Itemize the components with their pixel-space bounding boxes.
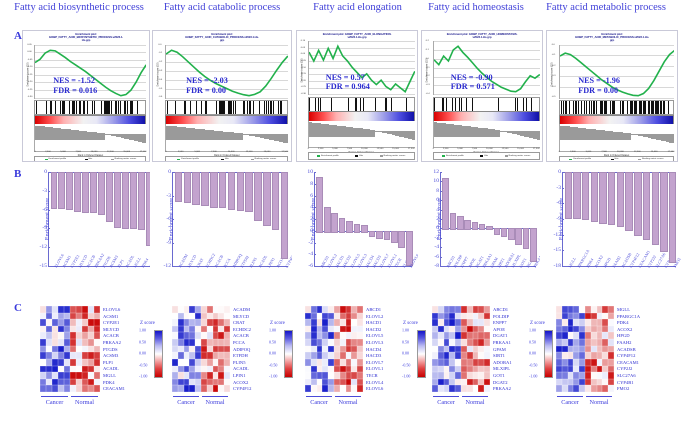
gene-label: DGAT1 bbox=[493, 333, 512, 340]
bar bbox=[74, 172, 81, 212]
gene-label: MLXIPL bbox=[493, 366, 512, 373]
legend-label: Ranking metric scores bbox=[642, 158, 664, 160]
bar bbox=[582, 172, 589, 220]
gene-label: GPAM bbox=[493, 347, 512, 354]
heatmap-cell bbox=[608, 379, 614, 386]
heatmap-block-2: ACADMMLYCDCRATECHDC2ACACBPCCAADIPOQETFDH… bbox=[172, 306, 300, 424]
bar bbox=[508, 228, 515, 239]
hit-tick bbox=[644, 101, 645, 114]
gsea-plot-5: Enrichment plot:GOBP_FATTY_ACID_METABOLI… bbox=[546, 30, 678, 162]
z-score-tick: 1.00 bbox=[269, 328, 276, 333]
gene-label: ACSM1 bbox=[103, 314, 125, 321]
rank-x-tick: 15,000 bbox=[651, 151, 658, 153]
es-y-tick: 0.05 bbox=[301, 47, 305, 49]
gene-label: FMO2 bbox=[617, 386, 640, 393]
es-y-tick: -0.30 bbox=[27, 96, 32, 98]
es-y-tick: -0.1 bbox=[158, 52, 162, 54]
hit-tick bbox=[74, 101, 75, 114]
rank-x-tick: 5,000 bbox=[60, 151, 65, 153]
group-underline bbox=[41, 396, 68, 397]
gene-label: ENPP7 bbox=[493, 320, 512, 327]
hit-tick bbox=[452, 98, 453, 111]
gene-label: ACADSB bbox=[617, 347, 640, 354]
bar-chart-y-tick: 10 bbox=[307, 169, 313, 175]
z-score-legend-title: Z score bbox=[403, 321, 418, 326]
hit-tick bbox=[523, 98, 524, 111]
hit-tick bbox=[221, 101, 222, 114]
bar bbox=[515, 228, 522, 245]
heatmap-grid bbox=[556, 306, 614, 392]
hit-tick bbox=[641, 101, 642, 114]
group-underline bbox=[335, 396, 361, 397]
bar-chart-y-tick: -9 bbox=[166, 240, 171, 246]
hit-tick bbox=[320, 98, 321, 111]
heatmap-cell bbox=[484, 366, 490, 373]
legend-entry: Enrichment profile bbox=[45, 158, 67, 160]
hit-tick bbox=[51, 101, 52, 114]
fdr-value: FDR = 0.964 bbox=[326, 82, 370, 92]
hit-tick bbox=[264, 101, 265, 114]
bar bbox=[617, 172, 624, 227]
bar bbox=[130, 172, 137, 229]
bar bbox=[643, 172, 650, 240]
rank-x-tick: 2,500 bbox=[570, 151, 575, 153]
heatmap-cell bbox=[357, 319, 363, 326]
legend-label: Ranking metric scores bbox=[384, 155, 406, 157]
bar bbox=[472, 222, 479, 231]
bar-chart-y-tick: 0 bbox=[168, 169, 171, 175]
heatmap-cell bbox=[94, 319, 100, 326]
hit-tick bbox=[631, 101, 632, 114]
bar bbox=[175, 172, 182, 202]
hit-tick bbox=[76, 101, 77, 114]
heatmap-cell bbox=[94, 313, 100, 320]
bar bbox=[669, 172, 676, 263]
rank-metric-area bbox=[434, 121, 540, 147]
bar-chart-y-axis-label: Enrichment score bbox=[45, 198, 51, 240]
hit-tick bbox=[640, 101, 641, 114]
rank-metric-bar bbox=[373, 130, 375, 137]
bar-chart-y-tick: 10 bbox=[433, 178, 439, 184]
column-title-5: Fatty acid metabolic process bbox=[532, 2, 680, 13]
bar bbox=[263, 172, 270, 226]
hit-tick bbox=[652, 101, 653, 114]
heatmap-cell bbox=[484, 359, 490, 366]
hit-tick bbox=[250, 101, 251, 114]
z-score-tick: 0.50 bbox=[139, 339, 146, 344]
hit-tick bbox=[60, 101, 61, 114]
es-gridline bbox=[166, 98, 288, 99]
heatmap-cell bbox=[484, 372, 490, 379]
bar bbox=[254, 172, 261, 221]
bar-chart-plot-area: 1086420-2-4-6ABCD1ELOVL2HACD1HACD2ELOVL5… bbox=[314, 172, 412, 267]
hit-tick bbox=[259, 101, 260, 114]
hit-tick bbox=[602, 101, 603, 114]
hit-tick bbox=[515, 98, 516, 111]
gsea-plot-3: Enrichment plot: GOBP_FATTY_ACID_ELONGAT… bbox=[296, 30, 418, 162]
bar bbox=[90, 172, 97, 213]
bar-chart-x-label: PDK4 bbox=[585, 257, 594, 268]
rank-x-tick: 15,000 bbox=[264, 151, 271, 153]
heatmap-cell bbox=[484, 385, 490, 392]
gene-label: PCCA bbox=[233, 340, 251, 347]
legend-swatch-icon bbox=[317, 155, 320, 156]
hit-tick bbox=[253, 101, 254, 114]
es-y-tick: -0.05 bbox=[27, 59, 32, 61]
legend-entry: Enrichment profile bbox=[317, 155, 339, 157]
hit-tick bbox=[355, 98, 356, 111]
gene-label: PPARGC1A bbox=[617, 314, 640, 321]
heatmap-cell bbox=[357, 346, 363, 353]
legend-label: Ranking metric scores bbox=[115, 158, 137, 160]
group-label-normal: Normal bbox=[586, 399, 612, 406]
bar-chart-x-label: HPGD bbox=[602, 257, 612, 269]
hit-tick bbox=[645, 101, 646, 114]
heatmap-cell bbox=[357, 313, 363, 320]
bar-chart-1: 0-3-6-9-12-15ELOVL6ACSM1CYP2E1MLYCDACACB… bbox=[26, 168, 154, 293]
legend-entry: Ranking metric scores bbox=[505, 155, 531, 157]
z-score-tick: 0.50 bbox=[402, 339, 409, 344]
legend-label: Enrichment profile bbox=[49, 158, 67, 160]
rank-x-tick: 2,500 bbox=[178, 151, 183, 153]
group-label-cancer: Cancer bbox=[433, 399, 459, 406]
bar-chart-x-label: CRAT bbox=[195, 257, 204, 268]
legend-label: Hits bbox=[484, 155, 488, 157]
heatmap-block-4: ABCD1POLDIPENPP7APOEDGAT1PRKAA1GPAMSIRT1… bbox=[432, 306, 560, 424]
hit-tick bbox=[623, 101, 624, 114]
gene-label: ELOVL3 bbox=[366, 340, 383, 347]
hit-tick bbox=[605, 101, 606, 114]
bar bbox=[479, 224, 486, 230]
rank-x-tick-labels: 02,5005,0007,50010,00012,50015,00017,500 bbox=[34, 151, 146, 153]
ranked-list-metric-panel bbox=[165, 124, 288, 151]
hit-tick bbox=[108, 101, 109, 114]
rank-metric-bar bbox=[630, 133, 632, 140]
hit-tick bbox=[576, 101, 577, 114]
rank-x-tick-labels: 02,5005,0007,50010,00012,50015,00017,500 bbox=[559, 151, 675, 153]
es-y-axis-label: Enrichment score (ES) bbox=[157, 62, 160, 86]
heatmap-gene-labels: ABCD1ELOVL2HACD1HACD2ELOVL5ELOVL3HACD4HA… bbox=[366, 307, 383, 393]
nes-value: NES = -1.96 bbox=[578, 76, 620, 86]
hit-tick bbox=[385, 98, 386, 111]
legend-entry: Enrichment profile bbox=[177, 158, 199, 160]
bar bbox=[354, 224, 361, 233]
legend-swatch-icon bbox=[45, 159, 48, 160]
bar-chart-y-axis-label: Enrichment score bbox=[437, 198, 443, 240]
hit-tick bbox=[614, 101, 615, 114]
bar-chart-y-tick: -12 bbox=[40, 244, 47, 250]
hit-tick bbox=[228, 101, 229, 114]
gene-label: ACADM bbox=[233, 307, 251, 314]
heatmap-cell bbox=[94, 339, 100, 346]
hit-tick bbox=[206, 101, 207, 114]
hit-tick bbox=[569, 101, 570, 114]
rank-x-tick: 10,000 bbox=[91, 151, 98, 153]
bar-chart-y-tick: -15 bbox=[554, 247, 561, 253]
heatmap-cell bbox=[608, 346, 614, 353]
fdr-value: FDR = 0.571 bbox=[451, 82, 495, 92]
nes-fdr-annotation: NES = -1.96FDR = 0.00 bbox=[578, 76, 620, 95]
gsea-plot-title-3: Enrichment plot: GOBP_FATTY_ACID_ELONGAT… bbox=[297, 31, 417, 40]
es-gridline bbox=[309, 94, 415, 95]
rank-x-tick: 0 bbox=[559, 151, 560, 153]
heatmap-cell bbox=[94, 306, 100, 313]
gene-label: CYP2J2 bbox=[617, 366, 640, 373]
hit-tick bbox=[434, 98, 435, 111]
rank-x-tick: 7,500 bbox=[75, 151, 80, 153]
rank-metric-area bbox=[309, 121, 415, 147]
bar bbox=[625, 172, 632, 231]
legend-swatch-icon bbox=[638, 159, 641, 160]
gsea-title-line: v2023.1.Hs.grp bbox=[298, 36, 416, 39]
bar bbox=[210, 172, 217, 208]
legend-swatch-icon bbox=[569, 159, 572, 160]
hit-tick bbox=[124, 101, 125, 114]
z-score-tick: 0.00 bbox=[269, 351, 276, 356]
rank-x-tick: 12,500 bbox=[246, 151, 253, 153]
panel-letter-a: A bbox=[14, 30, 22, 42]
bar bbox=[450, 213, 457, 230]
rank-x-tick: 17,500 bbox=[282, 151, 289, 153]
hit-tick bbox=[561, 101, 562, 114]
hit-tick bbox=[105, 101, 106, 114]
rank-metric-bar bbox=[103, 133, 105, 140]
bar-chart-plot-area: 0-3-6-9-12-15ELOVL6ACSM1CYP2E1MLYCDACACB… bbox=[48, 172, 152, 267]
heatmap-grid bbox=[172, 306, 230, 392]
hit-tick bbox=[233, 101, 234, 114]
legend-swatch-icon bbox=[611, 159, 614, 160]
gene-label: ELOVL1 bbox=[366, 366, 383, 373]
hit-tick bbox=[185, 101, 186, 114]
gene-label: CYP2E1 bbox=[103, 320, 125, 327]
gene-label: MLYCD bbox=[233, 314, 251, 321]
bar bbox=[634, 172, 641, 236]
z-score-tick: 1.00 bbox=[139, 328, 146, 333]
gsea-plot-title-1: Enrichment plot:GOBP_FATTY_ACID_BIOSYNTH… bbox=[23, 31, 149, 44]
gene-label: ELOVL6 bbox=[366, 386, 383, 393]
heatmap-grid bbox=[305, 306, 363, 392]
group-label-cancer: Cancer bbox=[557, 399, 583, 406]
heatmap-cell bbox=[608, 306, 614, 313]
heatmap-block-3: ABCD1ELOVL2HACD1HACD2ELOVL5ELOVL3HACD4HA… bbox=[305, 306, 433, 424]
bar-chart-y-tick: 8 bbox=[436, 188, 439, 194]
rank-metric-area bbox=[35, 124, 146, 150]
group-underline bbox=[306, 396, 332, 397]
heatmap-cell bbox=[608, 352, 614, 359]
heatmap-cell bbox=[94, 379, 100, 386]
column-title-4: Fatty acid homeostasis bbox=[416, 2, 536, 13]
heatmap-cell bbox=[224, 306, 230, 313]
es-y-tick: -0.25 bbox=[27, 89, 32, 91]
bar bbox=[245, 172, 252, 212]
bar bbox=[660, 172, 667, 252]
hit-tick bbox=[73, 101, 74, 114]
gene-label: MGLL bbox=[617, 307, 640, 314]
es-y-tick: -0.30 bbox=[301, 93, 306, 95]
rank-x-tick: 12,500 bbox=[634, 151, 641, 153]
heatmap-cell bbox=[608, 319, 614, 326]
hit-tick bbox=[84, 101, 85, 114]
rank-x-tick: 2,500 bbox=[443, 148, 448, 150]
bar-chart-4: 121086420-2-4-6-8ABCD1POLDIPENPP7APOEDGA… bbox=[418, 168, 538, 293]
bar-chart-y-tick: -4 bbox=[434, 244, 439, 250]
heatmap-cell bbox=[224, 359, 230, 366]
legend-label: Ranking metric scores bbox=[255, 158, 277, 160]
legend-entry: Hits bbox=[221, 158, 229, 160]
bar-chart-y-tick: -3 bbox=[556, 185, 561, 191]
hit-tick bbox=[581, 101, 582, 114]
heatmap-cell bbox=[608, 359, 614, 366]
es-y-tick: -0.3 bbox=[426, 84, 430, 86]
rank-metric-bar bbox=[498, 130, 500, 137]
gene-label: POLDIP bbox=[493, 314, 512, 321]
hit-tick bbox=[116, 101, 117, 114]
hit-tick bbox=[201, 101, 202, 114]
hit-tick bbox=[132, 101, 133, 114]
hit-tick bbox=[318, 98, 319, 111]
hit-tick bbox=[278, 101, 279, 114]
es-gridline bbox=[434, 94, 540, 95]
heatmap-cell bbox=[357, 352, 363, 359]
rank-x-tick: 7,500 bbox=[347, 148, 352, 150]
group-underline bbox=[173, 396, 199, 397]
ranked-list-metric-panel bbox=[433, 121, 540, 148]
hit-tick bbox=[620, 101, 621, 114]
heatmap-grid bbox=[40, 306, 100, 392]
heatmap-cell bbox=[484, 352, 490, 359]
rank-x-tick: 12,500 bbox=[107, 151, 114, 153]
legend-label: Hits bbox=[359, 155, 363, 157]
gene-label: CYP4B1 bbox=[617, 380, 640, 387]
rank-x-tick: 17,500 bbox=[408, 148, 415, 150]
gene-hits-strip bbox=[34, 100, 146, 115]
bar-chart-y-tick: 0 bbox=[558, 169, 561, 175]
legend-label: Enrichment profile bbox=[446, 155, 464, 157]
gene-label: CEACAM1 bbox=[103, 386, 125, 393]
legend-label: Enrichment profile bbox=[181, 158, 199, 160]
z-score-legend-1: Z score1.000.500.00-0.50-1.00 bbox=[140, 322, 170, 380]
bar-chart-y-axis-label: Enrichment score bbox=[169, 198, 175, 240]
z-score-tick: -1.00 bbox=[139, 374, 147, 379]
legend-swatch-icon bbox=[221, 159, 224, 160]
hit-tick bbox=[184, 101, 185, 114]
bar-chart-y-axis-label: Enrichment score bbox=[311, 198, 317, 240]
gene-label: HACD2 bbox=[366, 327, 383, 334]
rank-x-tick: 15,000 bbox=[123, 151, 130, 153]
rank-x-tick: 0 bbox=[34, 151, 35, 153]
heatmap-cell bbox=[357, 366, 363, 373]
gene-label: PLP1 bbox=[103, 360, 125, 367]
z-score-color-bar bbox=[154, 330, 163, 378]
rank-x-tick: 17,500 bbox=[668, 151, 675, 153]
rank-x-tick-labels: 02,5005,0007,50010,00012,50015,00017,500 bbox=[433, 148, 540, 150]
hit-tick bbox=[46, 101, 47, 114]
heatmap-cell bbox=[94, 385, 100, 392]
legend-label: Hits bbox=[89, 158, 93, 160]
hit-tick bbox=[455, 98, 456, 111]
heatmap-gene-labels: ABCD1POLDIPENPP7APOEDGAT1PRKAA1GPAMSIRT1… bbox=[493, 307, 512, 393]
gene-label: PDK4 bbox=[617, 320, 640, 327]
fdr-value: FDR = 0.016 bbox=[53, 86, 97, 96]
hit-tick bbox=[243, 101, 244, 114]
bar-chart-x-label: PCCA bbox=[222, 257, 232, 269]
figure-root: Fatty acid biosynthetic processFatty aci… bbox=[0, 0, 681, 429]
bar bbox=[114, 172, 121, 228]
legend-entry: Ranking metric scores bbox=[251, 158, 277, 160]
hit-tick bbox=[125, 101, 126, 114]
hit-tick bbox=[167, 101, 168, 114]
gene-label: SLC27A6 bbox=[617, 373, 640, 380]
bar-chart-y-tick: -4 bbox=[308, 251, 313, 257]
heatmap-cell bbox=[224, 346, 230, 353]
bar-chart-y-tick: -15 bbox=[40, 263, 47, 269]
z-score-tick: 0.50 bbox=[269, 339, 276, 344]
rank-x-tick: 7,500 bbox=[601, 151, 606, 153]
heatmap-cell bbox=[608, 326, 614, 333]
hit-tick bbox=[610, 101, 611, 114]
heatmap-cell bbox=[484, 306, 490, 313]
es-y-tick: 0.05 bbox=[27, 44, 31, 46]
hit-tick bbox=[348, 98, 349, 111]
hit-tick bbox=[224, 101, 225, 114]
panel-letter-b: B bbox=[14, 168, 21, 180]
legend-entry: Ranking metric scores bbox=[111, 158, 137, 160]
hit-tick bbox=[566, 101, 567, 114]
gene-label: PRKAA1 bbox=[493, 340, 512, 347]
hit-tick bbox=[584, 101, 585, 114]
gene-label: ELOVL4 bbox=[366, 380, 383, 387]
bar bbox=[398, 231, 405, 248]
legend-label: Enrichment profile bbox=[321, 155, 339, 157]
heatmap-cell bbox=[357, 339, 363, 346]
gene-label: CYP4F12 bbox=[233, 386, 251, 393]
ranked-list-metric-panel bbox=[308, 121, 415, 148]
heatmap-cell bbox=[224, 352, 230, 359]
z-score-tick: -1.00 bbox=[402, 374, 410, 379]
rank-x-tick: 5,000 bbox=[586, 151, 591, 153]
hit-tick bbox=[632, 101, 633, 114]
bar bbox=[106, 172, 113, 222]
group-underline bbox=[462, 396, 488, 397]
bar bbox=[346, 221, 353, 233]
hit-tick bbox=[111, 101, 112, 114]
rank-metric-area bbox=[166, 124, 288, 150]
legend-swatch-icon bbox=[355, 155, 358, 156]
legend-entry: Hits bbox=[355, 155, 363, 157]
rank-x-tick: 0 bbox=[433, 148, 434, 150]
fdr-value: FDR = 0.00 bbox=[578, 86, 620, 96]
es-gridline bbox=[560, 98, 675, 99]
heatmap-cell bbox=[357, 306, 363, 313]
column-title-1: Fatty acid biosynthetic process bbox=[4, 2, 154, 13]
rank-x-tick: 15,000 bbox=[517, 148, 524, 150]
bar bbox=[82, 172, 89, 213]
legend-swatch-icon bbox=[85, 159, 88, 160]
gsea-plot-title-4: Enrichment plot: GOBP_FATTY_ACID_HOMEOST… bbox=[422, 31, 542, 40]
z-score-tick: -0.50 bbox=[269, 362, 277, 367]
hit-tick bbox=[573, 101, 574, 114]
hit-tick bbox=[268, 101, 269, 114]
gene-hits-strip bbox=[433, 97, 540, 112]
bar bbox=[237, 172, 244, 211]
gsea-title-line: Hs.grp bbox=[24, 39, 148, 42]
hit-tick bbox=[406, 98, 407, 111]
gene-label: ABCD1 bbox=[493, 307, 512, 314]
panel-letter-c: C bbox=[14, 302, 22, 314]
bar-chart-plot-area: 0-3-6-9-12-15-18MGLLPPARGC1APDK4ACOX2HPG… bbox=[562, 172, 676, 267]
hit-tick bbox=[363, 98, 364, 111]
gene-label: FAAH2 bbox=[617, 340, 640, 347]
